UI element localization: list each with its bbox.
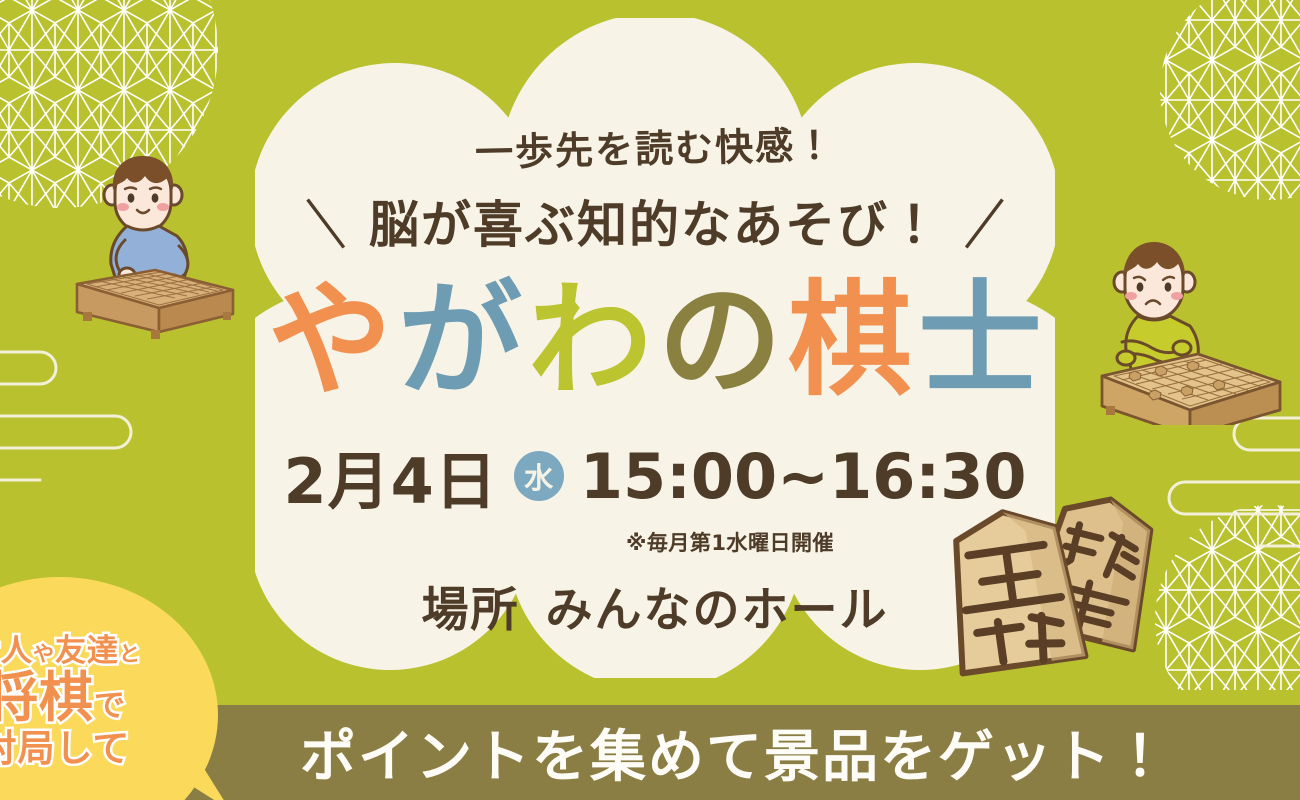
bubble-line-1d: と bbox=[119, 642, 141, 666]
title-char-3: わ bbox=[528, 279, 652, 403]
bubble-line-3: 対局して bbox=[0, 730, 130, 769]
place-label: 場所 bbox=[422, 583, 520, 638]
weekday-badge: 水 bbox=[514, 451, 564, 501]
bubble-line-1: 大人や友達と bbox=[0, 635, 141, 668]
bubble-line-1b: や bbox=[33, 642, 55, 666]
title-char-6: 士 bbox=[918, 279, 1042, 403]
speech-bubble: 大人や友達と 将棋で 対局して bbox=[0, 575, 270, 800]
poster-title: や が わ の 棋 士 bbox=[268, 279, 1042, 403]
bubble-line-1a: 大人 bbox=[0, 633, 33, 669]
catch-line-2: 脳が喜ぶ知的なあそび！ bbox=[363, 185, 947, 257]
title-char-2: が bbox=[398, 279, 522, 403]
title-char-4: の bbox=[658, 279, 782, 403]
recurrence-note: ※毎月第1水曜日開催 bbox=[626, 527, 834, 557]
asanoha-pattern-top-right bbox=[1120, 0, 1300, 220]
slash-right-icon: ／ bbox=[959, 199, 1011, 251]
title-char-5: 棋 bbox=[788, 279, 912, 403]
event-place: 場所みんなのホール bbox=[422, 571, 889, 640]
kasumi-cloud-pattern-left bbox=[0, 330, 200, 490]
catch-line-1: 一歩先を読む快感！ bbox=[474, 114, 835, 177]
poster-content: 一歩先を読む快感！ ＼ 脳が喜ぶ知的なあそび！ ／ や が わ の 棋 士 2月… bbox=[255, 18, 1055, 678]
poster-canvas: 一歩先を読む快感！ ＼ 脳が喜ぶ知的なあそび！ ／ や が わ の 棋 士 2月… bbox=[0, 0, 1300, 800]
bottom-banner-text: ポイントを集めて景品をゲット！ bbox=[300, 712, 1170, 793]
slash-left-icon: ＼ bbox=[299, 199, 351, 251]
bubble-line-2: 将棋で bbox=[0, 670, 126, 727]
event-date: 2月4日 bbox=[284, 431, 498, 521]
boy-thinking-right bbox=[1090, 230, 1290, 425]
bubble-line-2b: で bbox=[94, 688, 126, 724]
speech-bubble-text: 大人や友達と 将棋で 対局して bbox=[0, 602, 170, 800]
bubble-line-1c: 友達 bbox=[55, 633, 119, 669]
event-datetime: 2月4日 水 15:00~16:30 bbox=[284, 431, 1027, 521]
event-time: 15:00~16:30 bbox=[580, 440, 1027, 513]
boy-with-shogi-board-left bbox=[55, 140, 250, 340]
place-value: みんなのホール bbox=[546, 583, 889, 638]
bubble-line-2a: 将棋 bbox=[0, 666, 94, 729]
catch-line-2-row: ＼ 脳が喜ぶ知的なあそび！ ／ bbox=[303, 185, 1007, 257]
title-char-1: や bbox=[268, 279, 392, 403]
